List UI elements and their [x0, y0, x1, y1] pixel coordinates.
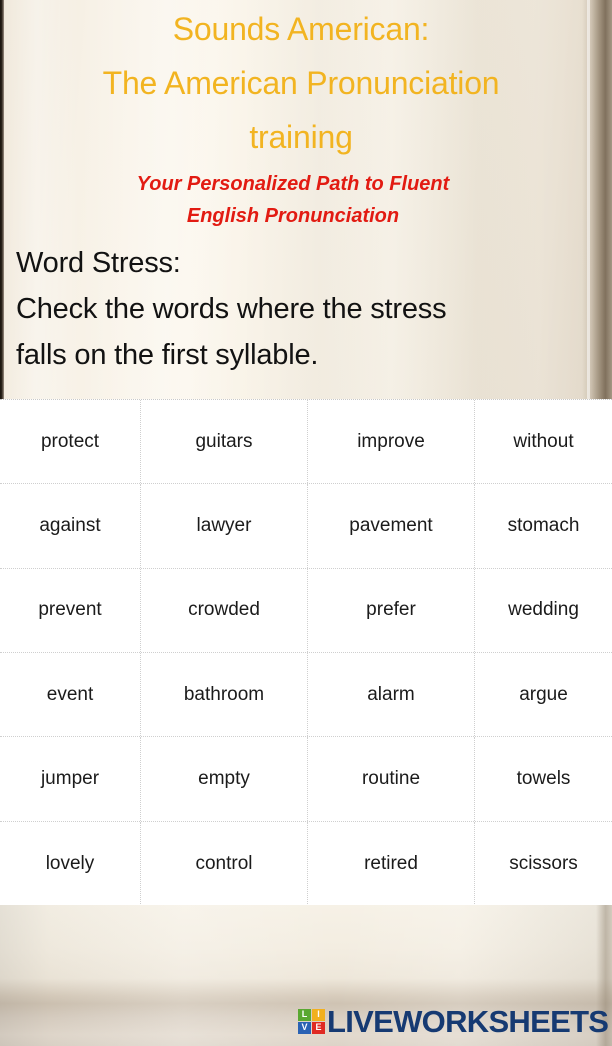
- page-subtitle: Your Personalized Path to Fluent English…: [8, 168, 578, 232]
- word-cell[interactable]: lawyer: [141, 484, 308, 567]
- subtitle-line-1: Your Personalized Path to Fluent: [8, 168, 578, 200]
- word-cell[interactable]: routine: [308, 737, 475, 820]
- title-line-1: Sounds American:: [8, 2, 594, 56]
- table-row: protect guitars improve without: [0, 400, 612, 484]
- word-cell[interactable]: prefer: [308, 569, 475, 652]
- word-cell[interactable]: jumper: [0, 737, 141, 820]
- word-cell[interactable]: scissors: [475, 822, 612, 906]
- logo-tile-e: E: [312, 1022, 325, 1034]
- logo-tile-i: I: [312, 1009, 325, 1021]
- word-cell[interactable]: event: [0, 653, 141, 736]
- word-cell[interactable]: empty: [141, 737, 308, 820]
- word-cell[interactable]: protect: [0, 400, 141, 483]
- word-cell[interactable]: against: [0, 484, 141, 567]
- word-cell[interactable]: towels: [475, 737, 612, 820]
- liveworksheets-logo[interactable]: L I V E LIVEWORKSHEETS: [298, 1003, 608, 1039]
- instruction-line-2: falls on the first syllable.: [16, 332, 596, 378]
- table-row: event bathroom alarm argue: [0, 653, 612, 737]
- title-line-3: training: [8, 110, 594, 164]
- table-row: against lawyer pavement stomach: [0, 484, 612, 568]
- word-cell[interactable]: retired: [308, 822, 475, 906]
- liveworksheets-tiles-icon: L I V E: [298, 1009, 325, 1034]
- word-cell[interactable]: prevent: [0, 569, 141, 652]
- word-cell[interactable]: stomach: [475, 484, 612, 567]
- word-cell[interactable]: alarm: [308, 653, 475, 736]
- logo-tile-l: L: [298, 1009, 311, 1021]
- logo-tile-v: V: [298, 1022, 311, 1034]
- word-cell[interactable]: improve: [308, 400, 475, 483]
- word-cell[interactable]: bathroom: [141, 653, 308, 736]
- title-line-2: The American Pronunciation: [8, 56, 594, 110]
- instructions-block: Word Stress: Check the words where the s…: [16, 240, 596, 378]
- word-cell[interactable]: without: [475, 400, 612, 483]
- word-cell[interactable]: guitars: [141, 400, 308, 483]
- table-row: prevent crowded prefer wedding: [0, 569, 612, 653]
- instruction-line-1: Check the words where the stress: [16, 286, 596, 332]
- word-grid: protect guitars improve without against …: [0, 399, 612, 905]
- word-cell[interactable]: control: [141, 822, 308, 906]
- subtitle-line-2: English Pronunciation: [8, 200, 578, 232]
- worksheet-page: Sounds American: The American Pronunciat…: [0, 0, 612, 1046]
- instruction-heading: Word Stress:: [16, 240, 596, 286]
- word-cell[interactable]: lovely: [0, 822, 141, 906]
- word-cell[interactable]: pavement: [308, 484, 475, 567]
- word-cell[interactable]: crowded: [141, 569, 308, 652]
- table-row: jumper empty routine towels: [0, 737, 612, 821]
- left-edge-shadow: [0, 0, 4, 399]
- word-cell[interactable]: argue: [475, 653, 612, 736]
- word-cell[interactable]: wedding: [475, 569, 612, 652]
- table-row: lovely control retired scissors: [0, 822, 612, 906]
- page-title: Sounds American: The American Pronunciat…: [8, 2, 594, 164]
- liveworksheets-wordmark: LIVEWORKSHEETS: [327, 1006, 608, 1037]
